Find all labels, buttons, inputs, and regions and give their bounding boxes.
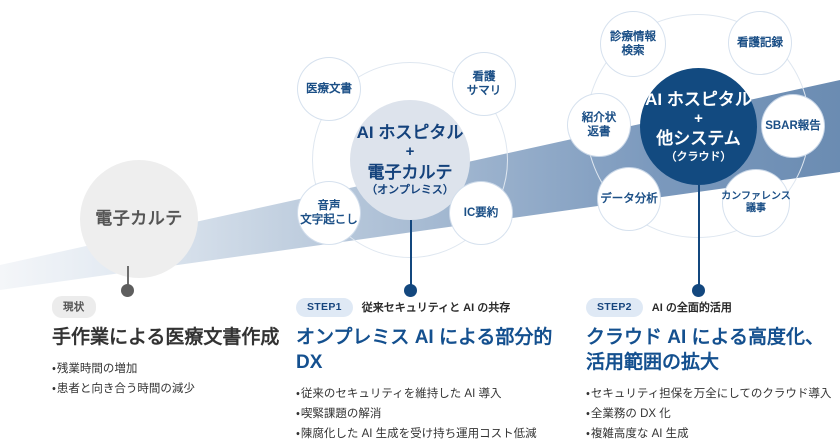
sat-voice-transcription[interactable]: 音声 文字起こし (298, 182, 360, 244)
step2-bullet-1: セキュリティ担保を万全にしてのクラウド導入 (586, 385, 840, 405)
current-title: 手作業による医療文書作成 (52, 325, 282, 350)
step1-bullet-1: 従来のセキュリティを維持した AI 導入 (296, 385, 571, 405)
current-bullet-2: 患者と向き合う時間の減少 (52, 380, 282, 400)
step2-bullets: セキュリティ担保を万全にしてのクラウド導入 全業務の DX 化 複雑高度な AI… (586, 385, 840, 444)
connector-stem-step2 (698, 185, 700, 290)
step1-badge-subtitle: 従来セキュリティと AI の共存 (362, 299, 510, 315)
step1-badge: STEP1 (296, 298, 353, 317)
hub2-line1: AI ホスピタル (645, 89, 752, 110)
sat-referral-reply-line1: 紹介状 (582, 111, 617, 125)
node-legacy-emr-label: 電子カルテ (95, 208, 183, 229)
hub-ai-hospital-cloud[interactable]: AI ホスピタル + 他システム （クラウド） (640, 68, 757, 185)
sat-referral-reply[interactable]: 紹介状 返書 (568, 94, 630, 156)
step2-bullet-3: 複雑高度な AI 生成 (586, 425, 840, 444)
sat-voice-transcription-line1: 音声 (300, 199, 358, 213)
timeline-block-step2: STEP2 AI の全面的活用 クラウド AI による高度化、 活用範囲の拡大 … (586, 298, 840, 444)
hub1-plus: + (406, 144, 415, 161)
step2-title-line2: 活用範囲の拡大 (586, 350, 840, 375)
node-legacy-emr[interactable]: 電子カルテ (80, 160, 198, 278)
current-bullets: 残業時間の増加 患者と向き合う時間の減少 (52, 360, 282, 400)
step2-badge-row: STEP2 AI の全面的活用 (586, 298, 840, 316)
sat-clinical-info-search-line1: 診療情報 (610, 30, 656, 44)
sat-nursing-summary[interactable]: 看護 サマリ (453, 53, 515, 115)
connector-stem-step1 (410, 220, 412, 290)
hub2-line3: （クラウド） (666, 151, 732, 165)
sat-voice-transcription-line2: 文字起こし (300, 213, 358, 227)
current-badge: 現状 (52, 296, 96, 318)
step1-bullet-2: 喫緊課題の解消 (296, 405, 571, 425)
step2-title: クラウド AI による高度化、 活用範囲の拡大 (586, 325, 840, 375)
connector-dot-step2 (692, 284, 705, 297)
connector-dot-step1 (404, 284, 417, 297)
sat-nursing-record-line1: 看護記録 (737, 36, 783, 50)
sat-clinical-info-search[interactable]: 診療情報 検索 (601, 12, 665, 76)
sat-conference-minutes[interactable]: カンファレンス 議事 (723, 170, 789, 236)
sat-medical-document[interactable]: 医療文書 (298, 58, 360, 120)
step2-bullet-2: 全業務の DX 化 (586, 405, 840, 425)
sat-nursing-record[interactable]: 看護記録 (729, 12, 791, 74)
step2-badge: STEP2 (586, 298, 643, 317)
connector-dot-current (121, 284, 134, 297)
step2-title-line1: クラウド AI による高度化、 (586, 325, 840, 350)
infographic-root: 電子カルテ AI ホスピタル + 電子カルテ （オンプレミス） 医療文書 看護 … (0, 0, 840, 442)
sat-clinical-info-search-line2: 検索 (610, 44, 656, 58)
sat-data-analysis-line1: データ分析 (600, 192, 658, 206)
timeline-block-step1: STEP1 従来セキュリティと AI の共存 オンプレミス AI による部分的 … (296, 298, 571, 444)
hub1-line3: （オンプレミス） (366, 184, 454, 198)
sat-ic-summary-line1: IC要約 (464, 206, 499, 220)
sat-referral-reply-line2: 返書 (582, 125, 617, 139)
timeline-block-current: 現状 手作業による医療文書作成 残業時間の増加 患者と向き合う時間の減少 (52, 298, 282, 400)
hub2-line2: 他システム (656, 128, 741, 149)
hub2-plus: + (694, 111, 703, 128)
sat-ic-summary[interactable]: IC要約 (450, 182, 512, 244)
sat-data-analysis[interactable]: データ分析 (598, 168, 660, 230)
sat-nursing-summary-line2: サマリ (467, 84, 502, 98)
step1-bullets: 従来のセキュリティを維持した AI 導入 喫緊課題の解消 陳腐化した AI 生成… (296, 385, 571, 444)
hub1-line2: 電子カルテ (368, 162, 453, 183)
step1-title: オンプレミス AI による部分的 DX (296, 325, 571, 375)
sat-medical-document-line1: 医療文書 (306, 82, 352, 96)
step2-badge-subtitle: AI の全面的活用 (652, 299, 732, 315)
sat-nursing-summary-line1: 看護 (467, 70, 502, 84)
sat-conference-minutes-line2: 議事 (721, 203, 791, 216)
current-badge-row: 現状 (52, 298, 282, 316)
sat-sbar-report-line1: SBAR報告 (765, 119, 821, 133)
hub1-line1: AI ホスピタル (357, 122, 464, 143)
current-bullet-1: 残業時間の増加 (52, 360, 282, 380)
step1-bullet-3: 陳腐化した AI 生成を受け持ち運用コスト低減 (296, 425, 571, 444)
sat-sbar-report[interactable]: SBAR報告 (762, 95, 824, 157)
sat-conference-minutes-line1: カンファレンス (721, 191, 791, 204)
step1-badge-row: STEP1 従来セキュリティと AI の共存 (296, 298, 571, 316)
